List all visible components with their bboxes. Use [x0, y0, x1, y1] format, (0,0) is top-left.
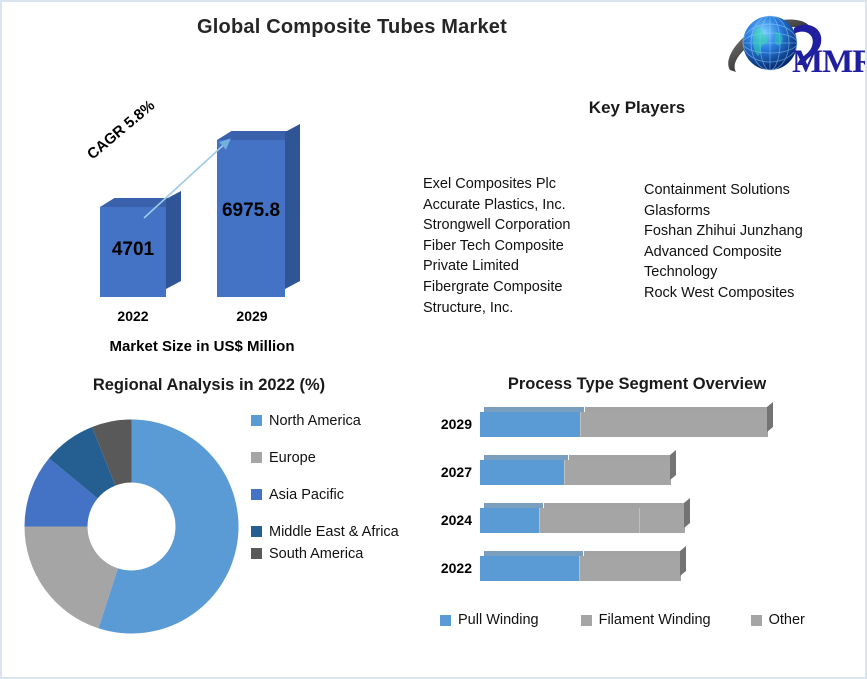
donut-hole	[88, 483, 176, 571]
stacked-bar-segment	[580, 412, 768, 437]
mmr-logo: MMR	[718, 8, 866, 88]
donut-svg	[24, 419, 239, 634]
stacked-bar-segment-top	[584, 551, 685, 556]
legend-swatch	[251, 452, 262, 463]
stacked-bar-segment-top	[484, 551, 583, 556]
stacked-row-year-label: 2027	[416, 464, 472, 480]
column-chart-caption: Market Size in US$ Million	[72, 338, 332, 355]
stacked-bar-segment-top	[484, 503, 543, 508]
legend-label: North America	[269, 412, 401, 430]
legend-swatch	[251, 489, 262, 500]
legend-item: Middle East & Africa	[251, 523, 401, 541]
stacked-bar-segment-top	[644, 503, 689, 508]
stacked-bar-end-cap	[670, 450, 676, 480]
process-type-legend: Pull WindingFilament WindingOther	[440, 612, 805, 628]
column-side-face	[166, 191, 181, 289]
stacked-row-year-label: 2029	[416, 416, 472, 432]
legend-swatch	[751, 615, 762, 626]
stacked-bar-row: 2024	[412, 498, 862, 540]
stacked-bar-row: 2022	[412, 546, 862, 588]
legend-item: Europe	[251, 449, 401, 467]
legend-item: South America	[251, 545, 401, 563]
legend-label: Middle East & Africa	[269, 523, 401, 541]
key-players-column-1: Exel Composites Plc Accurate Plastics, I…	[423, 174, 633, 318]
process-type-title: Process Type Segment Overview	[417, 375, 857, 394]
key-players-title: Key Players	[432, 98, 842, 118]
legend-label: Filament Winding	[599, 612, 711, 628]
regional-analysis-donut-chart	[24, 419, 239, 634]
column-year-label-2029: 2029	[212, 308, 292, 324]
stacked-bar-end-cap	[684, 498, 690, 528]
column-bar-2022: 4701	[100, 207, 166, 297]
legend-item: North America	[251, 412, 401, 430]
legend-label: Europe	[269, 449, 401, 467]
stacked-bar-segment	[480, 508, 539, 533]
stacked-bar-row: 2027	[412, 450, 862, 492]
stacked-bar-segment-top	[544, 503, 644, 508]
stacked-bar-segment	[480, 412, 580, 437]
column-value-2022: 4701	[100, 239, 166, 261]
process-type-stacked-chart: 2029202720242022	[412, 402, 862, 602]
column-side-face	[285, 124, 300, 289]
stacked-row-year-label: 2024	[416, 512, 472, 528]
stacked-bar-segment	[539, 508, 640, 533]
stacked-bar-segment-top	[569, 455, 675, 460]
market-size-column-chart: 4701 6975.8 CAGR 5.8% 2022 2029 Market S…	[62, 112, 392, 362]
stacked-bar-segment	[564, 460, 671, 485]
legend-item: Other	[751, 612, 805, 628]
key-players-column-2: Containment Solutions Glasforms Foshan Z…	[644, 180, 859, 304]
regional-analysis-title: Regional Analysis in 2022 (%)	[14, 376, 404, 395]
legend-label: Asia Pacific	[269, 486, 401, 504]
column-bar-2029: 6975.8	[217, 140, 285, 297]
stacked-bar-end-cap	[767, 402, 773, 432]
legend-label: Other	[769, 612, 805, 628]
cagr-label: CAGR 5.8%	[84, 97, 158, 163]
legend-label: South America	[269, 545, 401, 563]
legend-item: Asia Pacific	[251, 486, 401, 504]
regional-analysis-legend: North AmericaEuropeAsia PacificMiddle Ea…	[251, 412, 401, 582]
page-title: Global Composite Tubes Market	[2, 16, 702, 39]
stacked-bar-segment	[639, 508, 685, 533]
stacked-bar-segment	[480, 556, 579, 581]
column-year-label-2022: 2022	[93, 308, 173, 324]
stacked-bar-segment-top	[585, 407, 772, 412]
legend-swatch	[251, 548, 262, 559]
legend-swatch	[251, 415, 262, 426]
legend-swatch	[251, 526, 262, 537]
stacked-bar-end-cap	[680, 546, 686, 576]
infographic-canvas: Global Composite Tubes Market	[0, 0, 867, 679]
legend-swatch	[581, 615, 592, 626]
column-value-2029: 6975.8	[217, 200, 285, 222]
stacked-bar-segment-top	[484, 455, 568, 460]
legend-label: Pull Winding	[458, 612, 539, 628]
stacked-bar-row: 2029	[412, 402, 862, 444]
stacked-row-year-label: 2022	[416, 560, 472, 576]
stacked-bar-segment	[480, 460, 564, 485]
legend-item: Filament Winding	[581, 612, 711, 628]
stacked-bar-segment	[579, 556, 681, 581]
legend-item: Pull Winding	[440, 612, 539, 628]
logo-text: MMR	[792, 44, 867, 81]
legend-swatch	[440, 615, 451, 626]
stacked-bar-segment-top	[484, 407, 584, 412]
